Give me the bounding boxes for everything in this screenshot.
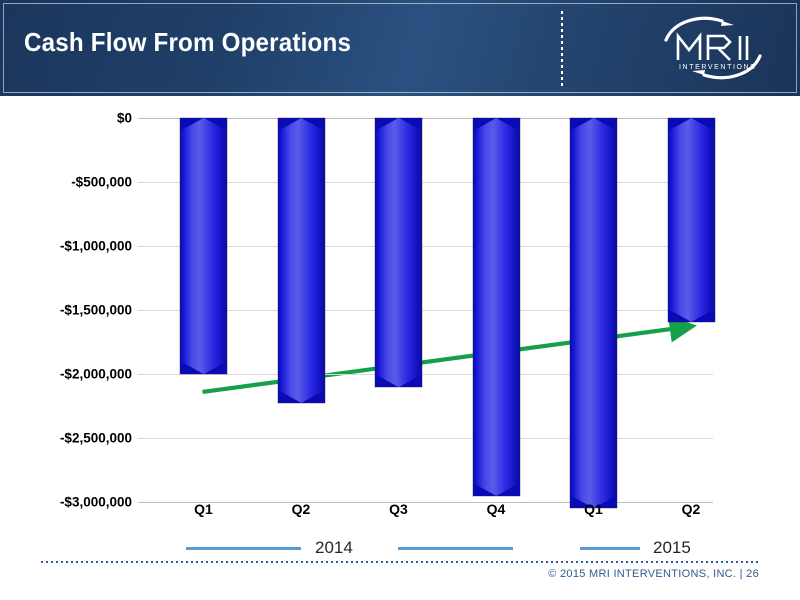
bar-bevel-bottom — [473, 483, 520, 496]
year-2014-line-right — [398, 547, 513, 550]
x-axis-label-4: Q1 — [570, 501, 617, 517]
year-2015-label: 2015 — [653, 538, 691, 558]
x-axis-label-1: Q2 — [278, 501, 325, 517]
x-axis-label-2: Q3 — [375, 501, 422, 517]
bar-q1-2015[interactable] — [570, 118, 617, 508]
bar-q4-2014[interactable] — [473, 118, 520, 496]
bar-bevel-top — [278, 118, 325, 131]
bar-bevel-bottom — [278, 390, 325, 403]
bar-bevel-bottom — [668, 309, 715, 322]
vertical-dotted-divider-icon — [561, 11, 563, 89]
bar-bevel-top — [668, 118, 715, 131]
bar-bevel-bottom — [375, 374, 422, 387]
year-2014-line-left — [186, 547, 301, 550]
bar-bevel-top — [375, 118, 422, 131]
bar-q2-2014[interactable] — [278, 118, 325, 403]
x-axis-label-3: Q4 — [473, 501, 520, 517]
y-axis-tick-label: $0 — [0, 111, 132, 126]
y-axis-tick-label: -$1,500,000 — [0, 303, 132, 318]
x-axis-label-0: Q1 — [180, 501, 227, 517]
gridline — [138, 438, 713, 439]
footer-copyright: © 2015 MRI INTERVENTIONS, INC. | 26 — [548, 568, 759, 580]
bar-q3-2014[interactable] — [375, 118, 422, 387]
bar-bevel-top — [180, 118, 227, 131]
year-2015-line-left — [580, 547, 640, 550]
bar-q1-2014[interactable] — [180, 118, 227, 374]
y-axis-tick-label: -$2,000,000 — [0, 367, 132, 382]
page-title: Cash Flow From Operations — [24, 27, 351, 58]
bar-bevel-top — [570, 118, 617, 131]
logo-tagline: INTERVENTIONS — [679, 64, 756, 71]
y-axis-tick-label: -$500,000 — [0, 175, 132, 190]
year-2014-label: 2014 — [315, 538, 353, 558]
x-axis-label-5: Q2 — [668, 501, 715, 517]
bar-q2-2015[interactable] — [668, 118, 715, 322]
bar-bevel-top — [473, 118, 520, 131]
y-axis-tick-label: -$1,000,000 — [0, 239, 132, 254]
gridline — [138, 374, 713, 375]
cash-flow-bar-chart: $0-$500,000-$1,000,000-$1,500,000-$2,000… — [0, 96, 800, 556]
footer-divider — [41, 561, 759, 563]
y-axis-tick-label: -$3,000,000 — [0, 495, 132, 510]
y-axis-tick-label: -$2,500,000 — [0, 431, 132, 446]
bar-bevel-bottom — [180, 361, 227, 374]
mri-logo: INTERVENTIONS — [648, 12, 778, 84]
slide-header: Cash Flow From Operations — [0, 0, 800, 96]
logo-wordmark-icon — [678, 36, 747, 60]
year-group-legend: 2014 2015 — [0, 538, 800, 560]
